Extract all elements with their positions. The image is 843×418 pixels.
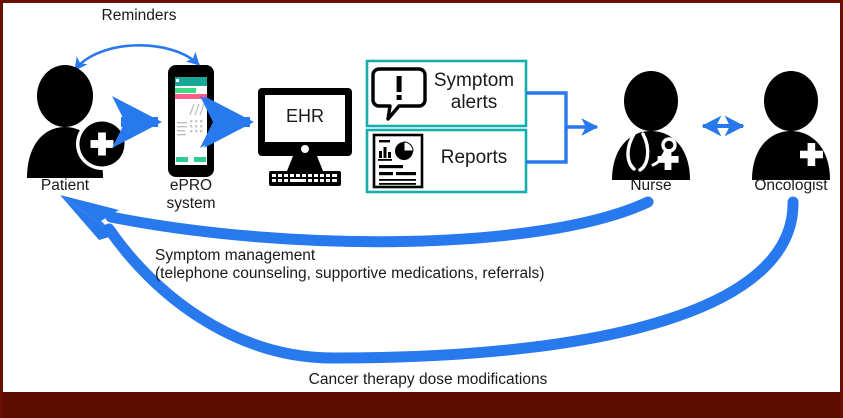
bottom-color-bar — [3, 392, 843, 418]
phone-green-band — [175, 88, 196, 93]
node-label-nurse: Nurse — [611, 177, 691, 195]
box-label-symptom-alerts-line2: alerts — [427, 92, 521, 114]
box-label-symptom-alerts-line1: Symptom — [427, 70, 521, 92]
ehr-monitor-icon — [258, 88, 352, 186]
phone-pink-band — [175, 94, 207, 99]
figure-container: Reminders Patient ePRO system EHR Sympto… — [0, 0, 843, 418]
box-label-reports: Reports — [427, 149, 521, 167]
patient-icon — [27, 65, 128, 178]
bracket-connector — [526, 93, 566, 162]
node-label-ehr: EHR — [275, 107, 335, 125]
oncologist-icon — [752, 71, 830, 180]
report-document-chart-icon — [374, 135, 422, 187]
nurse-icon — [612, 71, 690, 180]
edge-label-dose-modifications: Cancer therapy dose modifications — [238, 371, 618, 389]
edge-label-symptom-management-line2: (telephone counseling, supportive medica… — [155, 265, 625, 283]
node-label-epro-line1: ePRO — [151, 177, 231, 195]
node-label-oncologist: Oncologist — [739, 177, 843, 195]
diagram-canvas — [3, 3, 843, 418]
epro-smartphone-icon — [168, 65, 214, 177]
edge-boxes-to-nurse — [526, 93, 597, 162]
node-label-epro-line2: system — [151, 195, 231, 213]
edge-label-symptom-management-line1: Symptom management — [155, 247, 605, 265]
edge-label-reminders: Reminders — [65, 7, 213, 25]
phone-header-bar — [175, 77, 207, 86]
node-label-patient: Patient — [17, 177, 113, 195]
